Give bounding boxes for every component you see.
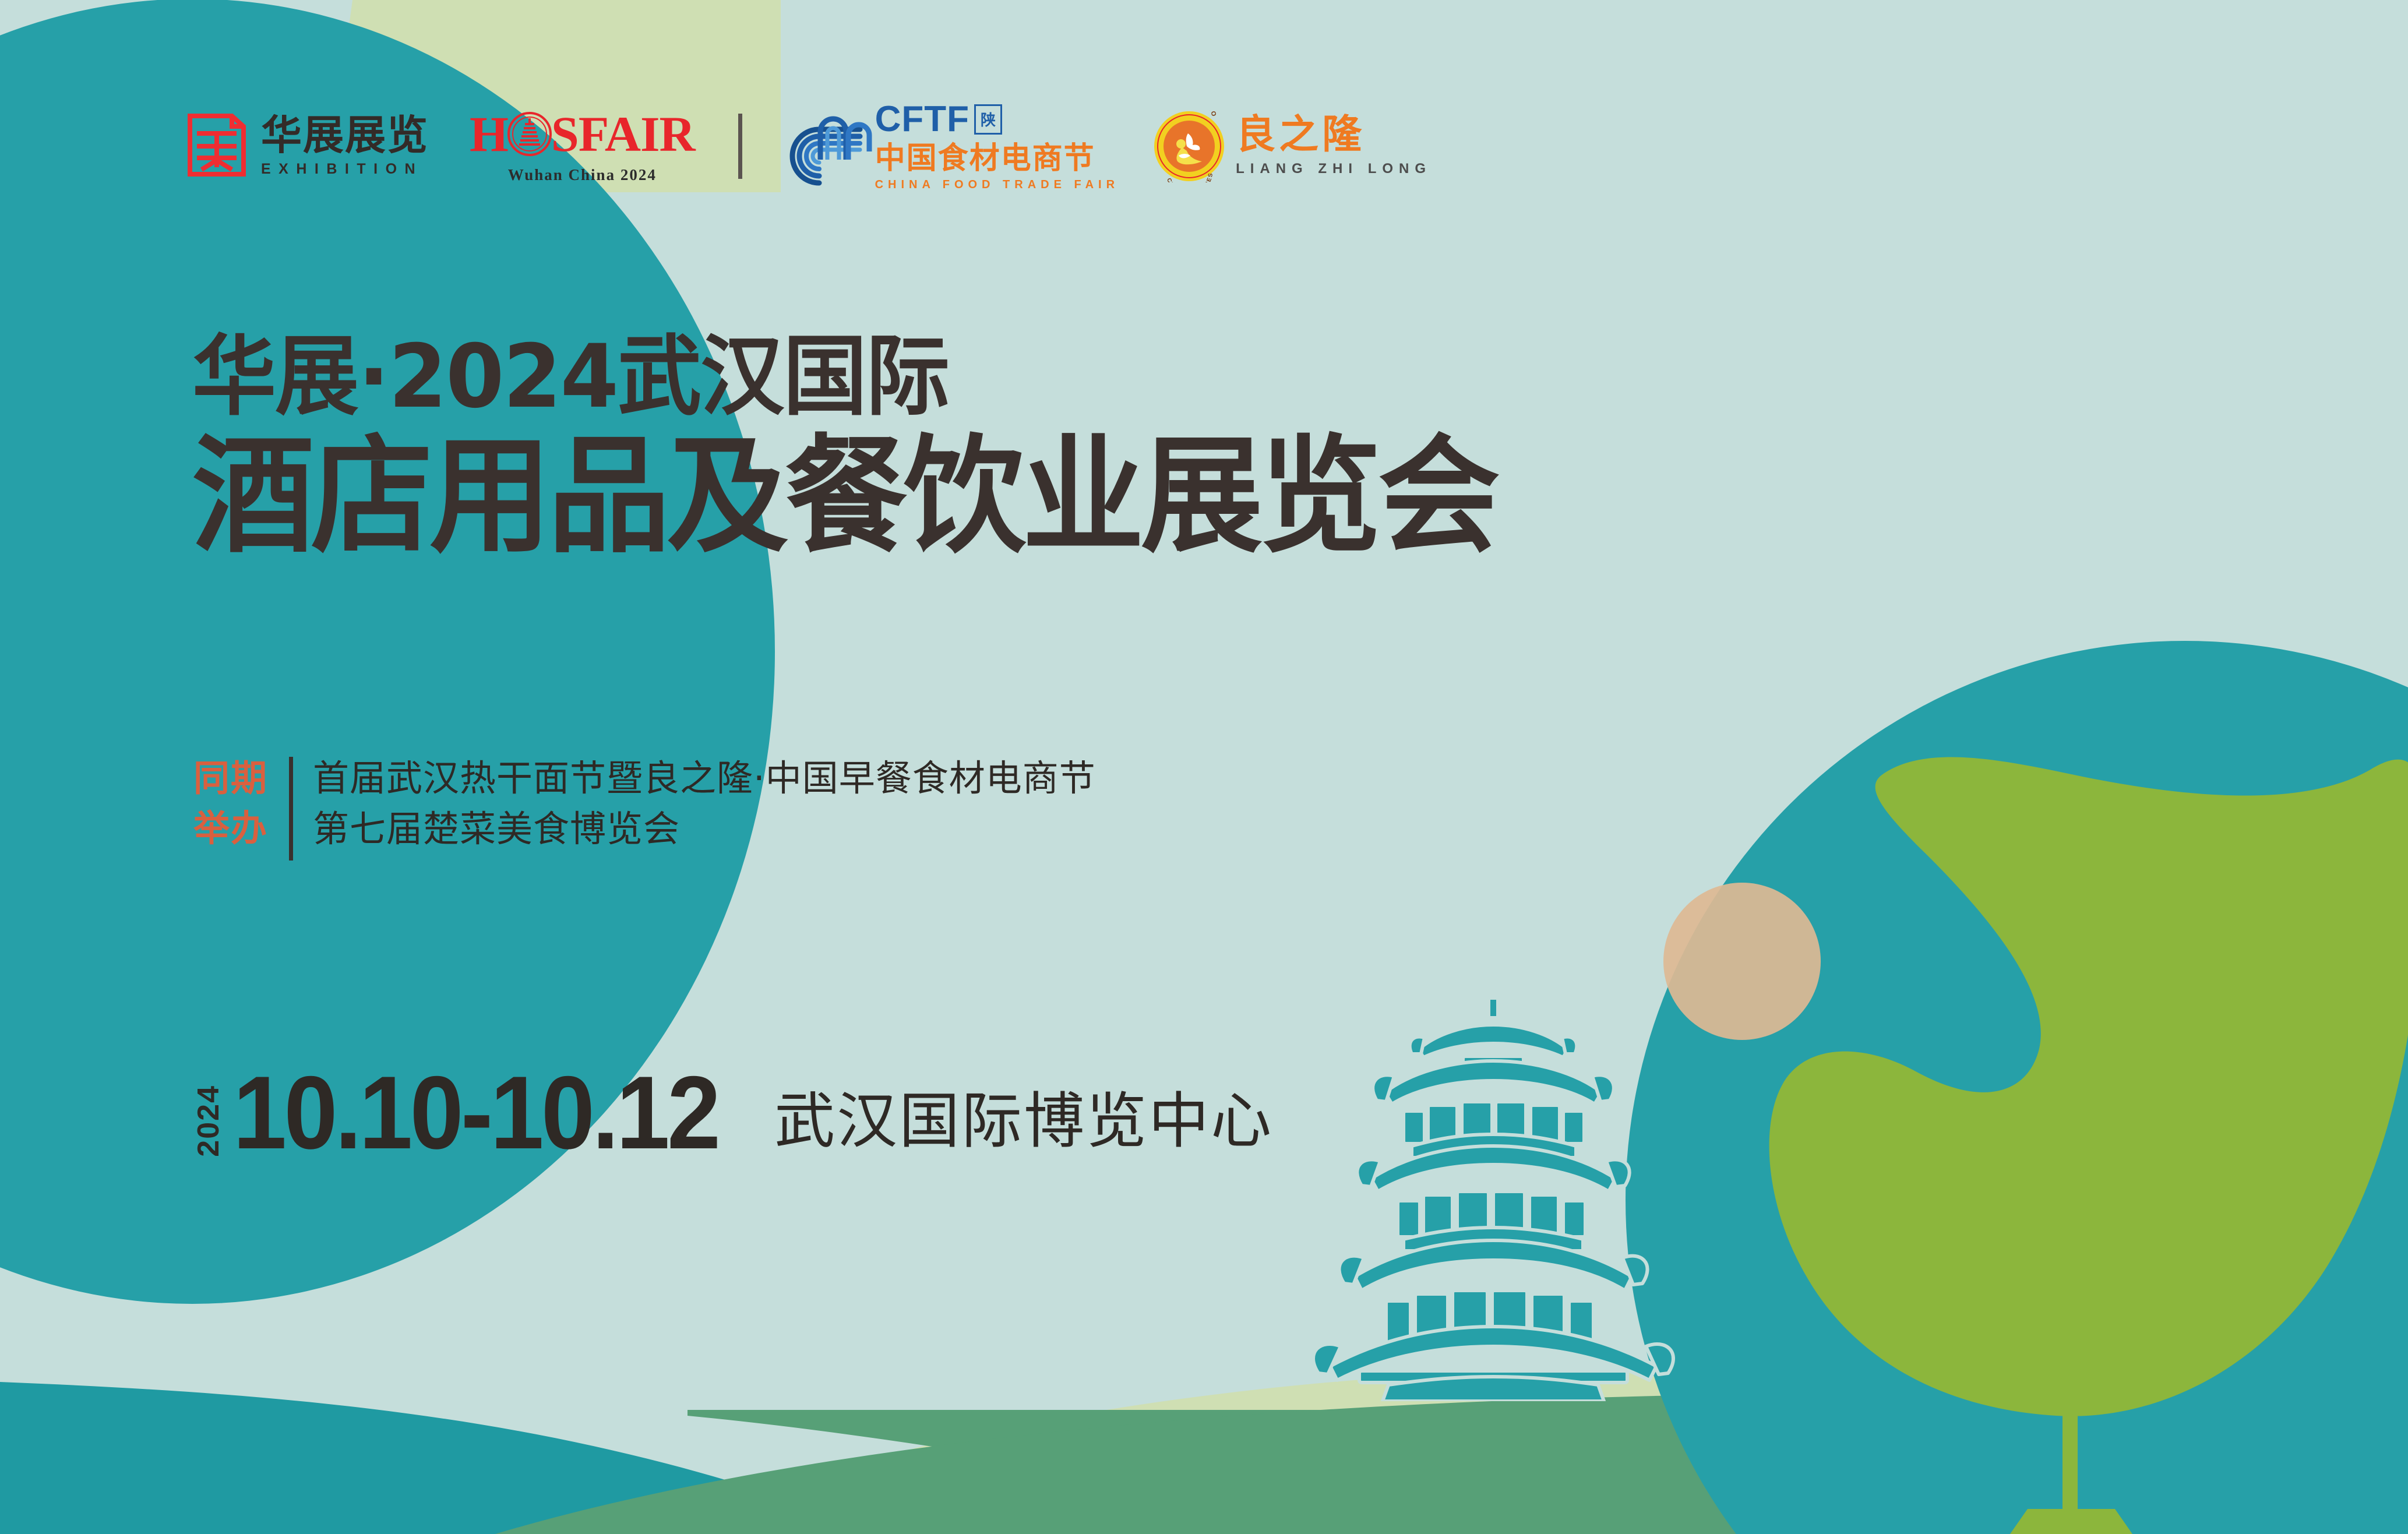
- headline-line-1: 华展·2024武汉国际: [192, 333, 1497, 421]
- event-year-label: 2024: [193, 1085, 224, 1157]
- yellow-crane-tower-illustration: [1289, 993, 1697, 1401]
- liangzhilong-text: 良之隆 LIANG ZHI LONG: [1236, 115, 1432, 177]
- headline-line-2: 酒店用品及餐饮业展览会: [192, 433, 1497, 560]
- huazhan-cn-label: 华展展览: [261, 115, 429, 156]
- cftf-loop-mark-icon: [785, 107, 873, 186]
- headline-block: 华展·2024武汉国际 酒店用品及餐饮业展览会: [192, 333, 1551, 560]
- cftf-text: CFTF 陕 中国食材电商节 CHINA FOOD TRADE FAIR: [875, 101, 1119, 192]
- pagoda-circle-emblem-icon: [507, 111, 552, 157]
- logo-liangzhilong[interactable]: LIANG ZHI LONG CUISINE EXPRESS: [1153, 110, 1432, 182]
- liangzhilong-en-label: LIANG ZHI LONG: [1236, 161, 1432, 177]
- logo-cftf[interactable]: CFTF 陕 中国食材电商节 CHINA FOOD TRADE FAIR: [785, 101, 1119, 192]
- hosfair-h-label: H: [470, 109, 508, 159]
- logo-bar: 华展展览 EXHIBITION H: [185, 103, 1432, 190]
- concurrent-tag-line-1: 同期: [193, 753, 268, 803]
- liangzhilong-cn-label: 良之隆: [1236, 115, 1432, 155]
- hosfair-sfair-label: SFAIR: [551, 109, 695, 159]
- concurrent-event-list: 首届武汉热干面节暨良之隆·中国早餐食材电商节 第七届楚菜美食博览会: [313, 753, 1096, 855]
- date-venue-row: 2024 10.10-10.12 武汉国际博览中心: [193, 1065, 1273, 1161]
- logo-hosfair[interactable]: H: [470, 109, 695, 184]
- concurrent-event-2: 第七届楚菜美食博览会: [313, 804, 1096, 855]
- event-venue-label: 武汉国际博览中心: [774, 1091, 1273, 1151]
- cftf-abbr-label: CFTF: [875, 101, 969, 137]
- event-dates-label: 10.10-10.12: [233, 1065, 718, 1161]
- poster-root: 华展展览 EXHIBITION H: [0, 0, 2408, 1534]
- cftf-chip-label: 陕: [974, 104, 1002, 135]
- hosfair-sub-label: Wuhan China 2024: [508, 166, 657, 184]
- exhibition-square-mark-icon: [185, 114, 248, 179]
- concurrent-tag-line-2: 举办: [193, 803, 268, 854]
- hosfair-wordmark: H: [470, 109, 695, 159]
- concurrent-events-block: 同期 举办 首届武汉热干面节暨良之隆·中国早餐食材电商节 第七届楚菜美食博览会: [193, 753, 1096, 861]
- cftf-abbr-row: CFTF 陕: [875, 101, 1119, 137]
- logo-divider: [738, 114, 742, 179]
- cftf-cn-label: 中国食材电商节: [875, 143, 1119, 174]
- concurrent-event-1: 首届武汉热干面节暨良之隆·中国早餐食材电商节: [313, 753, 1096, 804]
- leaf-stem: [2063, 1410, 2078, 1512]
- logo-huazhan[interactable]: 华展展览 EXHIBITION: [185, 114, 429, 179]
- leaf-base: [2010, 1509, 2132, 1534]
- huazhan-en-label: EXHIBITION: [261, 161, 429, 178]
- pagoda-svg: [1289, 993, 1697, 1401]
- huazhan-text: 华展展览 EXHIBITION: [261, 115, 429, 178]
- concurrent-tag: 同期 举办: [193, 753, 268, 853]
- cftf-en-label: CHINA FOOD TRADE FAIR: [875, 178, 1119, 192]
- concurrent-rule: [289, 757, 293, 861]
- cuisine-express-seal-icon: LIANG ZHI LONG CUISINE EXPRESS: [1153, 110, 1225, 182]
